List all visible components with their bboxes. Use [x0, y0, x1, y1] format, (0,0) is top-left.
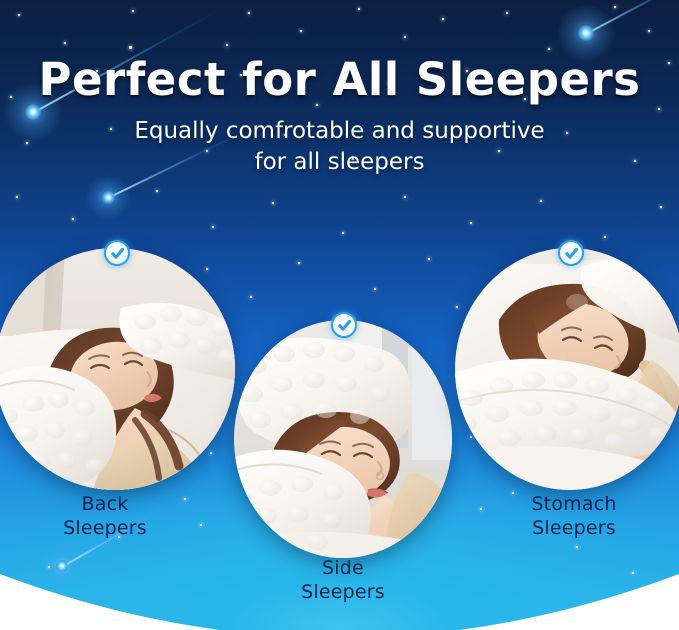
check-icon — [110, 246, 125, 261]
back-sleeper-check-badge — [104, 240, 130, 266]
infographic-banner: Perfect for All Sleepers Equally comfrot… — [0, 0, 679, 630]
page-subtitle: Equally comfrotable and supportive for a… — [0, 116, 679, 177]
check-icon — [337, 318, 352, 333]
back-sleeper-caption: Back Sleepers — [0, 492, 215, 541]
stomach-sleeper-caption-line1: Stomach — [464, 492, 679, 516]
back-sleeper-caption-line2: Sleepers — [0, 516, 215, 540]
stomach-sleeper-check-badge — [558, 240, 584, 266]
stomach-sleeper-photo — [455, 248, 679, 490]
stomach-sleeper-caption: Stomach Sleepers — [464, 492, 679, 541]
headline-block: Perfect for All Sleepers Equally comfrot… — [0, 56, 679, 177]
page-title: Perfect for All Sleepers — [0, 56, 679, 103]
bottom-wave-divider — [0, 544, 679, 630]
check-icon — [564, 246, 579, 261]
back-sleeper-caption-line1: Back — [0, 492, 215, 516]
page-subtitle-line1: Equally comfrotable and supportive — [0, 116, 679, 146]
back-sleeper-photo — [0, 248, 235, 490]
page-subtitle-line2: for all sleepers — [0, 147, 679, 177]
stomach-sleeper-caption-line2: Sleepers — [464, 516, 679, 540]
side-sleeper-photo — [234, 320, 452, 558]
side-sleeper-check-badge — [331, 312, 357, 338]
